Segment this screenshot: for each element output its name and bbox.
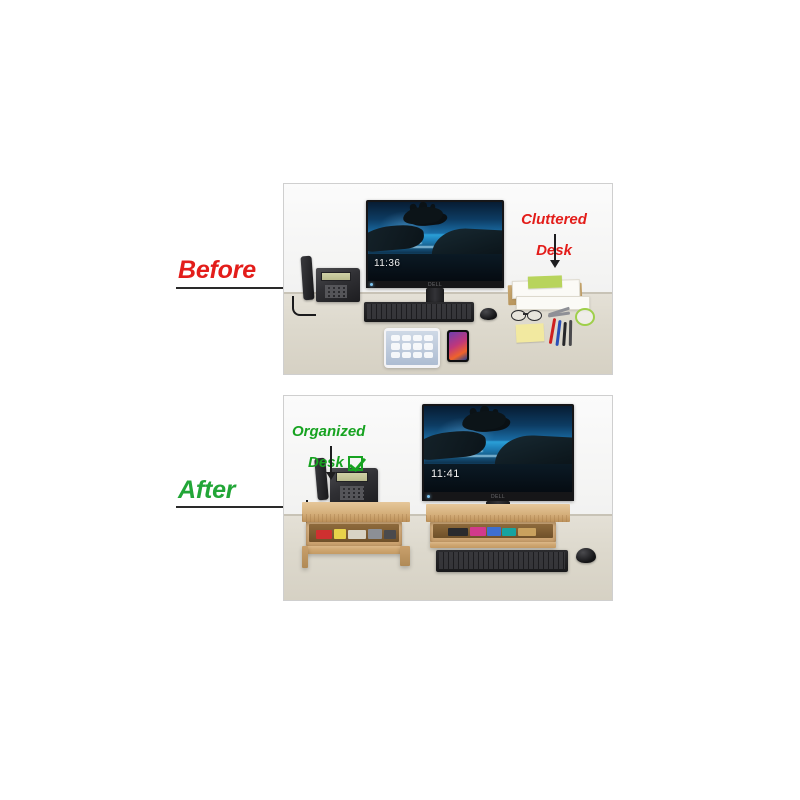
eyeglass-bridge (523, 313, 528, 315)
before-monitor: 11:36 DELL (366, 200, 504, 292)
before-mouse (480, 308, 497, 320)
wallpaper-rock-formation (402, 205, 444, 226)
after-label-underline (176, 506, 284, 508)
monitor-stand-drawer (430, 522, 556, 542)
eyeglass-lens (527, 310, 542, 321)
after-monitor-brand-logo: DELL (491, 494, 505, 500)
phone-stand-leg (400, 546, 410, 566)
after-phone-keypad (340, 486, 364, 500)
keyboard-keys (439, 552, 565, 569)
after-monitor-bezel: 11:41 DELL (422, 404, 574, 501)
before-green-sticky-pad (528, 275, 562, 288)
before-phone-cord (292, 296, 316, 316)
before-phone-body (316, 268, 360, 302)
before-yellow-sticky-notes (516, 323, 545, 342)
monitor-stand-top (426, 504, 570, 515)
after-label: After (178, 478, 235, 503)
before-monitor-chin: DELL (366, 281, 504, 288)
organized-callout-line1: Organized (292, 423, 365, 440)
drawer-supply-item (502, 528, 516, 536)
monitor-stand-apron (426, 515, 570, 522)
before-smartphone (447, 330, 469, 362)
wallpaper-rock-formation (462, 409, 508, 433)
before-phone-lcd (321, 272, 351, 281)
before-monitor-clock: 11:36 (374, 258, 400, 269)
organized-desk-callout: Organized Desk (292, 408, 410, 471)
drawer-supply-item (448, 528, 468, 536)
monitor-stand-drawer-base (430, 542, 556, 548)
keyboard-keys (367, 304, 471, 319)
before-phone-keypad (325, 285, 347, 298)
eyeglass-lens (511, 310, 526, 321)
before-keyboard (364, 302, 474, 322)
phone-stand-drawer (306, 522, 402, 546)
drawer-supply-item (348, 530, 366, 539)
drawer-supply-item (518, 528, 536, 536)
phone-stand-apron (302, 514, 410, 522)
before-monitor-bezel: 11:36 DELL (366, 200, 504, 288)
checkmark-box-icon (348, 456, 363, 471)
phone-stand-leg (302, 546, 308, 568)
comparison-image: Before 11:36 (0, 0, 800, 800)
smartphone-screen (449, 332, 467, 360)
cluttered-callout-line1: Cluttered (521, 211, 587, 228)
before-tablet (384, 328, 440, 368)
arrow-shaft (554, 234, 556, 261)
before-label: Before (178, 258, 256, 283)
power-led-icon (370, 283, 373, 286)
down-arrow-icon (325, 446, 337, 480)
after-phone-body (330, 468, 378, 504)
phone-stand-top (302, 502, 410, 514)
arrow-head (550, 260, 560, 268)
after-monitor-clock: 11:41 (431, 468, 460, 480)
arrow-head (326, 472, 336, 480)
drawer-supply-item (316, 530, 332, 539)
tablet-app-icons (391, 335, 433, 358)
drawer-supply-item (334, 529, 346, 539)
after-phone-lcd (336, 472, 368, 482)
after-monitor-screen: 11:41 (424, 406, 572, 494)
before-paper-stack (516, 296, 590, 310)
after-monitor-chin: DELL (422, 492, 574, 501)
drawer-supply-item (487, 527, 501, 536)
phone-stand-drawer-base (306, 546, 402, 554)
after-monitor: 11:41 DELL (422, 404, 574, 504)
after-mouse (576, 548, 596, 563)
before-monitor-screen: 11:36 (368, 202, 502, 281)
down-arrow-icon (549, 234, 561, 268)
before-pencil (569, 320, 572, 346)
tablet-screen (386, 331, 438, 365)
arrow-shaft (330, 446, 332, 473)
before-tape-dispenser (575, 308, 595, 326)
before-label-underline (176, 287, 284, 289)
after-keyboard (436, 550, 568, 572)
drawer-supply-item (384, 530, 396, 539)
power-led-icon (427, 495, 430, 498)
drawer-supply-item (368, 529, 382, 539)
drawer-supply-item (470, 527, 486, 536)
